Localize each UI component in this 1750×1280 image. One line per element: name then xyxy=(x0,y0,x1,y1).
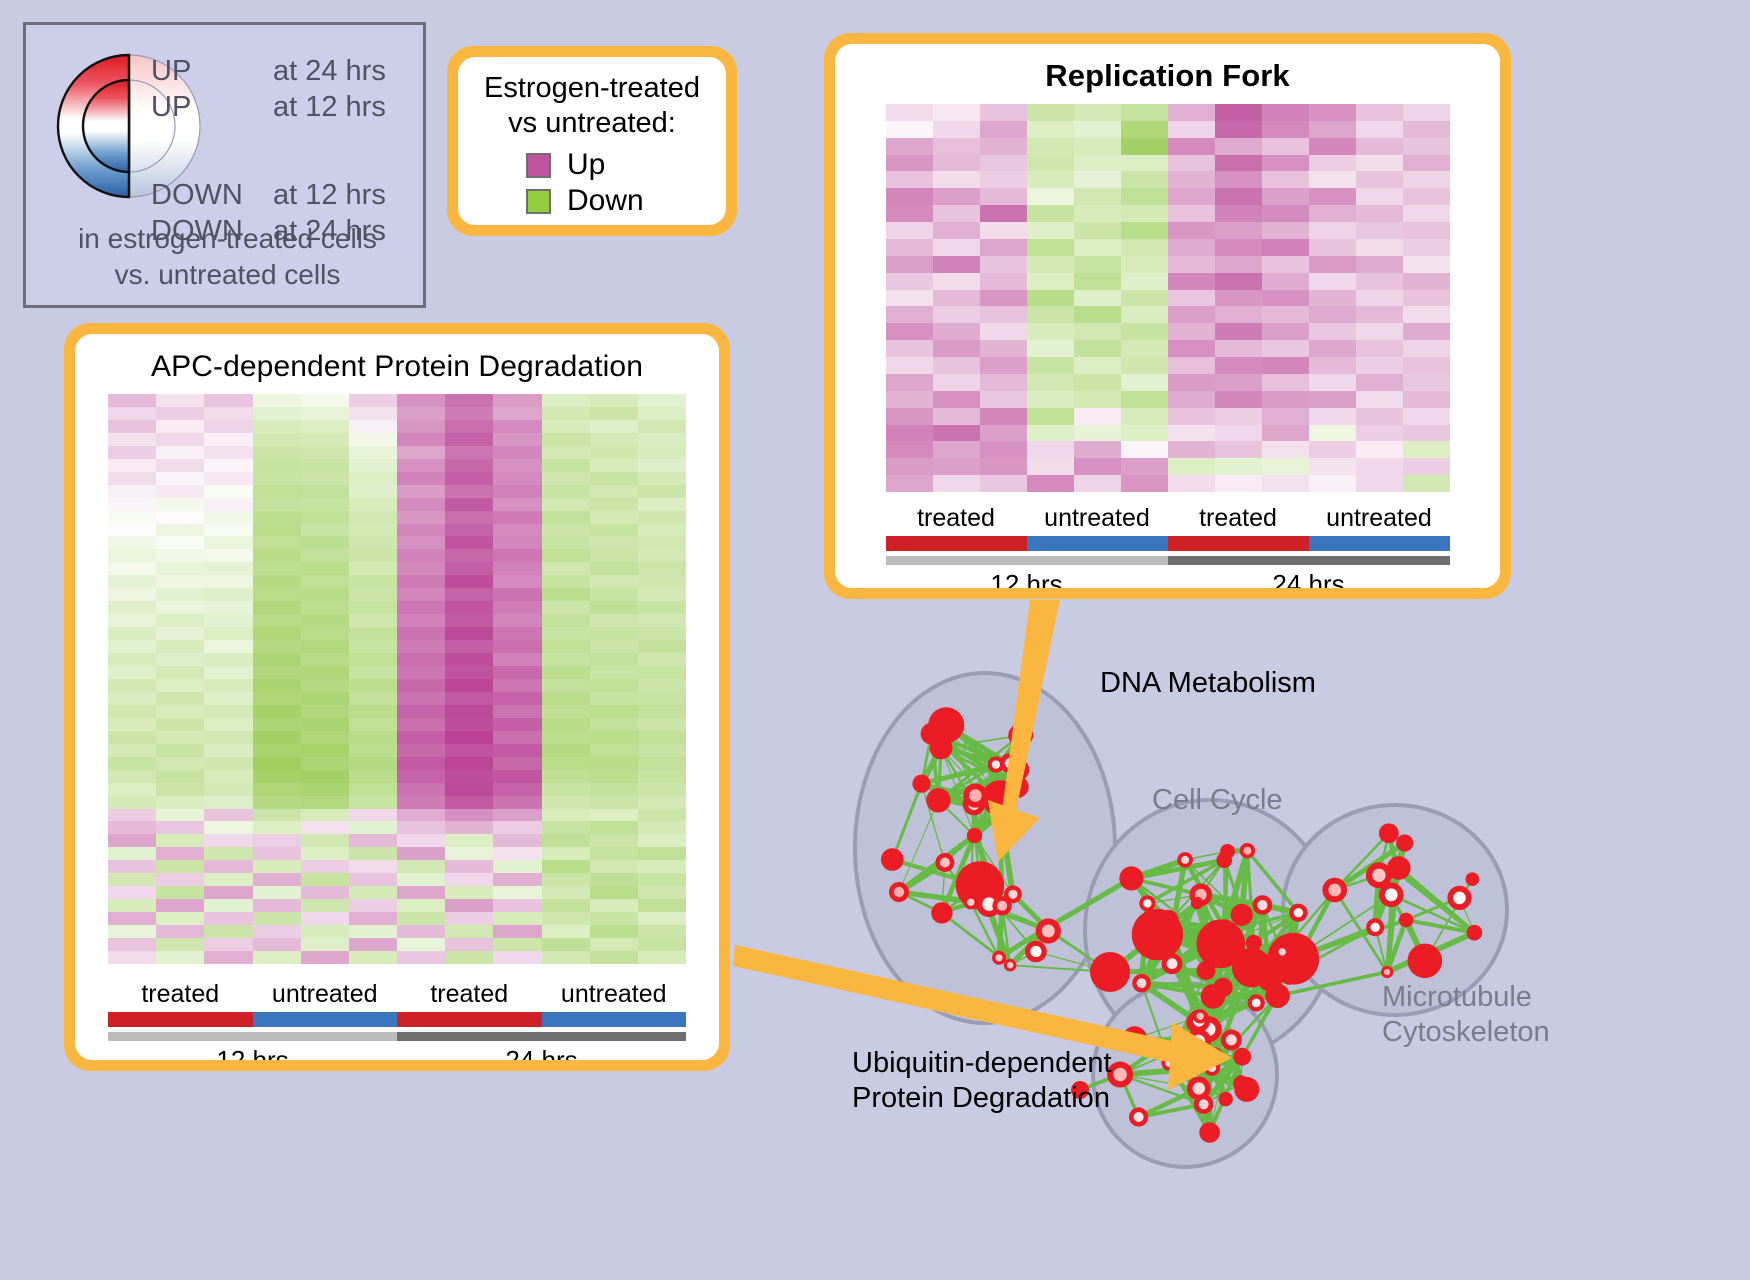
heatmap-cell xyxy=(253,498,301,511)
network-node[interactable] xyxy=(1201,984,1226,1009)
heatmap-cell xyxy=(156,757,204,770)
heatmap-cell xyxy=(542,938,590,951)
heatmap-cell xyxy=(1027,171,1074,188)
heatmap-cell xyxy=(1215,121,1262,138)
network-node[interactable] xyxy=(1390,864,1404,878)
heatmap-cell xyxy=(1262,138,1309,155)
heatmap-cell xyxy=(1027,205,1074,222)
heatmap-cell xyxy=(590,692,638,705)
heatmap-cell xyxy=(156,718,204,731)
network-node[interactable] xyxy=(1218,1092,1232,1106)
heatmap-cell xyxy=(108,536,156,549)
heatmap-cell xyxy=(1403,408,1450,425)
heatmap-cell xyxy=(1309,205,1356,222)
heatmap-cell xyxy=(1074,104,1121,121)
network-node[interactable] xyxy=(1396,835,1413,852)
heatmap-cell xyxy=(445,472,493,485)
heatmap-cell xyxy=(1121,458,1168,475)
heatmap-cell xyxy=(1262,323,1309,340)
heatmap-cell xyxy=(886,121,933,138)
heatmap-cell xyxy=(493,873,541,886)
heatmap-cell xyxy=(1262,391,1309,408)
heatmap-cell xyxy=(445,601,493,614)
heatmap-cell xyxy=(980,458,1027,475)
heatmap-cell xyxy=(349,705,397,718)
colorscale-row: UP at 12 hrs xyxy=(151,89,386,125)
heatmap-cell xyxy=(445,549,493,562)
heatmap-cell xyxy=(590,899,638,912)
heatmap-cell xyxy=(638,394,686,407)
sample-group-label: untreated xyxy=(542,978,687,1010)
cluster-label-ubiquitin: Ubiquitin-dependent Protein Degradation xyxy=(852,1046,1112,1116)
heatmap-cell xyxy=(590,938,638,951)
heatmap-cell xyxy=(156,912,204,925)
heatmap-cell xyxy=(542,692,590,705)
heatmap-cell xyxy=(1074,441,1121,458)
heatmap-cell xyxy=(108,821,156,834)
heatmap-cell xyxy=(1074,475,1121,492)
heatmap-cell xyxy=(349,614,397,627)
heatmap-cell xyxy=(590,627,638,640)
heatmap-cell xyxy=(886,138,933,155)
group-bar-treated xyxy=(108,1012,253,1027)
colorscale-footer-line1: in estrogen-treated cells xyxy=(26,221,429,257)
heatmap-cell xyxy=(933,104,980,121)
heatmap-cell xyxy=(1403,104,1450,121)
heatmap-cell xyxy=(1121,188,1168,205)
network-node[interactable] xyxy=(1160,932,1179,951)
heatmap-cell xyxy=(253,744,301,757)
heatmap-cell xyxy=(1074,391,1121,408)
heatmap-cell xyxy=(933,340,980,357)
heatmap-cell xyxy=(590,614,638,627)
panel-apc-degradation-inner: APC-dependent Protein Degradation treate… xyxy=(75,334,719,1060)
heatmap-cell xyxy=(204,951,252,964)
heatmap-cell xyxy=(349,938,397,951)
heatmap-cell xyxy=(156,459,204,472)
heatmap-cell xyxy=(397,433,445,446)
network-node[interactable] xyxy=(1399,913,1414,928)
heatmap-cell xyxy=(542,783,590,796)
heatmap-cell xyxy=(349,562,397,575)
heatmap-cell xyxy=(445,796,493,809)
heatmap-cell xyxy=(980,408,1027,425)
network-node-core xyxy=(940,858,950,868)
timepoint-colorbar xyxy=(108,1032,686,1041)
heatmap-cell xyxy=(638,536,686,549)
heatmap-cell xyxy=(108,640,156,653)
heatmap-cell xyxy=(590,705,638,718)
heatmap-apc-degradation xyxy=(108,394,686,964)
colorscale-rows: UP at 24 hrs UP at 12 hrs DOWN at 12 hrs… xyxy=(151,53,386,249)
heatmap-cell xyxy=(1168,408,1215,425)
heatmap-cell xyxy=(1168,306,1215,323)
heatmap-cell xyxy=(542,588,590,601)
network-node[interactable] xyxy=(912,775,930,793)
heatmap-cell xyxy=(204,407,252,420)
heatmap-cell xyxy=(108,770,156,783)
heatmap-cell xyxy=(156,770,204,783)
heatmap-cell xyxy=(1215,239,1262,256)
network-node-core xyxy=(1385,888,1398,901)
heatmap-cell xyxy=(253,433,301,446)
heatmap-cell xyxy=(397,847,445,860)
network-node[interactable] xyxy=(931,902,952,923)
heatmap-cell xyxy=(1262,475,1309,492)
heatmap-cell xyxy=(1262,273,1309,290)
heatmap-cell xyxy=(1027,408,1074,425)
heatmap-cell xyxy=(445,847,493,860)
legend-label-down: Down xyxy=(567,184,644,218)
heatmap-cell xyxy=(156,809,204,822)
network-node[interactable] xyxy=(1246,935,1262,951)
heatmap-cell xyxy=(397,770,445,783)
heatmap-cell xyxy=(1074,425,1121,442)
network-node[interactable] xyxy=(1408,944,1443,979)
heatmap-cell xyxy=(108,847,156,860)
heatmap-cell xyxy=(1215,425,1262,442)
heatmap-cell xyxy=(301,433,349,446)
heatmap-cell xyxy=(1027,441,1074,458)
heatmap-cell xyxy=(542,653,590,666)
heatmap-cell xyxy=(1403,374,1450,391)
heatmap-cell xyxy=(1309,104,1356,121)
heatmap-cell xyxy=(1309,121,1356,138)
heatmap-cell xyxy=(253,783,301,796)
heatmap-cell xyxy=(1215,357,1262,374)
network-node[interactable] xyxy=(1122,1026,1147,1051)
heatmap-cell xyxy=(1027,155,1074,172)
heatmap-cell xyxy=(301,420,349,433)
heatmap-cell xyxy=(493,394,541,407)
network-node[interactable] xyxy=(881,848,904,871)
heatmap-cell xyxy=(1027,323,1074,340)
heatmap-cell xyxy=(301,692,349,705)
heatmap-cell xyxy=(638,809,686,822)
heatmap-cell xyxy=(349,809,397,822)
heatmap-cell xyxy=(1356,256,1403,273)
heatmap-cell xyxy=(1309,391,1356,408)
heatmap-cell xyxy=(1262,171,1309,188)
heatmap-cell xyxy=(590,459,638,472)
heatmap-cell xyxy=(204,498,252,511)
heatmap-cell xyxy=(156,627,204,640)
heatmap-cell xyxy=(108,951,156,964)
heatmap-cell xyxy=(156,692,204,705)
heatmap-cell xyxy=(638,653,686,666)
heatmap-cell xyxy=(542,394,590,407)
heatmap-cell xyxy=(253,847,301,860)
heatmap-cell xyxy=(933,425,980,442)
heatmap-cell xyxy=(980,138,1027,155)
updown-legend-panel: Estrogen-treated vs untreated: Up Down xyxy=(447,46,737,236)
heatmap-cell xyxy=(1168,391,1215,408)
heatmap-cell xyxy=(397,588,445,601)
heatmap-cell xyxy=(204,860,252,873)
heatmap-cell xyxy=(1074,323,1121,340)
heatmap-cell xyxy=(493,446,541,459)
network-node-core xyxy=(894,887,904,897)
heatmap-cell xyxy=(886,391,933,408)
heatmap-cell xyxy=(397,912,445,925)
heatmap-cell xyxy=(349,899,397,912)
heatmap-cell xyxy=(1074,290,1121,307)
heatmap-cell xyxy=(397,407,445,420)
heatmap-cell xyxy=(1168,290,1215,307)
heatmap-cell xyxy=(638,640,686,653)
heatmap-cell xyxy=(933,408,980,425)
heatmap-cell xyxy=(980,104,1027,121)
heatmap-cell xyxy=(253,912,301,925)
network-node[interactable] xyxy=(930,736,953,759)
network-node[interactable] xyxy=(1220,844,1235,859)
heatmap-cell xyxy=(638,562,686,575)
colorscale-key: DOWN xyxy=(151,177,273,213)
network-node[interactable] xyxy=(967,828,982,843)
heatmap-cell xyxy=(349,679,397,692)
heatmap-cell xyxy=(1262,441,1309,458)
heatmap-cell xyxy=(1215,171,1262,188)
heatmap-cell xyxy=(204,847,252,860)
heatmap-cell xyxy=(1074,306,1121,323)
heatmap-cell xyxy=(1027,222,1074,239)
network-node[interactable] xyxy=(1158,910,1179,931)
heatmap-cell xyxy=(542,511,590,524)
network-node[interactable] xyxy=(1265,984,1289,1008)
heatmap-cell xyxy=(1356,425,1403,442)
heatmap-cell xyxy=(445,627,493,640)
heatmap-cell xyxy=(108,796,156,809)
heatmap-cell xyxy=(933,239,980,256)
heatmap-cell xyxy=(301,744,349,757)
group-bar-untreated xyxy=(253,1012,398,1027)
heatmap-cell xyxy=(253,407,301,420)
sample-group-label: untreated xyxy=(253,978,398,1010)
heatmap-cell xyxy=(301,536,349,549)
heatmap-cell xyxy=(638,485,686,498)
heatmap-cell xyxy=(1215,458,1262,475)
heatmap-cell xyxy=(253,679,301,692)
heatmap-cell xyxy=(1403,391,1450,408)
heatmap-cell xyxy=(542,809,590,822)
heatmap-cell xyxy=(397,666,445,679)
heatmap-cell xyxy=(1215,205,1262,222)
heatmap-cell xyxy=(542,562,590,575)
heatmap-cell xyxy=(638,601,686,614)
heatmap-cell xyxy=(445,770,493,783)
heatmap-cell xyxy=(1027,425,1074,442)
heatmap-cell xyxy=(1403,239,1450,256)
network-node[interactable] xyxy=(1466,872,1480,886)
heatmap-cell xyxy=(156,873,204,886)
heatmap-cell xyxy=(493,731,541,744)
heatmap-cell xyxy=(349,588,397,601)
heatmap-cell xyxy=(980,475,1027,492)
heatmap-cell xyxy=(445,614,493,627)
sample-group-label: treated xyxy=(886,502,1027,534)
heatmap-cell xyxy=(445,821,493,834)
heatmap-cell xyxy=(1121,256,1168,273)
heatmap-cell xyxy=(204,692,252,705)
heatmap-cell xyxy=(542,498,590,511)
heatmap-cell xyxy=(1309,155,1356,172)
heatmap-cell xyxy=(493,562,541,575)
time-bar-12hrs xyxy=(886,556,1168,565)
heatmap-cell xyxy=(156,549,204,562)
network-node[interactable] xyxy=(1199,1122,1220,1143)
heatmap-cell xyxy=(445,809,493,822)
heatmap-cell xyxy=(204,394,252,407)
network-node[interactable] xyxy=(1467,925,1483,941)
heatmap-cell xyxy=(1121,205,1168,222)
heatmap-cell xyxy=(204,485,252,498)
heatmap-cell xyxy=(1074,256,1121,273)
time-bar-24hrs xyxy=(1168,556,1450,565)
heatmap-cell xyxy=(1309,475,1356,492)
heatmap-cell xyxy=(1403,222,1450,239)
heatmap-cell xyxy=(493,433,541,446)
heatmap-cell xyxy=(204,666,252,679)
heatmap-cell xyxy=(397,472,445,485)
heatmap-cell xyxy=(1356,408,1403,425)
heatmap-cell xyxy=(301,575,349,588)
network-node[interactable] xyxy=(1191,897,1203,909)
network-node[interactable] xyxy=(1379,823,1399,843)
heatmap-cell xyxy=(493,511,541,524)
heatmap-cell xyxy=(590,860,638,873)
heatmap-cell xyxy=(1356,290,1403,307)
heatmap-cell xyxy=(397,886,445,899)
heatmap-cell xyxy=(1215,323,1262,340)
heatmap-cell xyxy=(493,718,541,731)
heatmap-cell xyxy=(1356,104,1403,121)
network-node[interactable] xyxy=(1234,1077,1259,1102)
heatmap-cell xyxy=(349,666,397,679)
heatmap-cell xyxy=(493,705,541,718)
heatmap-cell xyxy=(445,679,493,692)
heatmap-cell xyxy=(1215,340,1262,357)
heatmap-cell xyxy=(156,679,204,692)
heatmap-cell xyxy=(397,549,445,562)
heatmap-cell xyxy=(1027,104,1074,121)
heatmap-cell xyxy=(301,472,349,485)
heatmap-cell xyxy=(349,498,397,511)
network-node[interactable] xyxy=(1199,928,1218,947)
colorscale-value: at 24 hrs xyxy=(273,53,386,89)
heatmap-cell xyxy=(156,511,204,524)
heatmap-cell xyxy=(1168,256,1215,273)
heatmap-cell xyxy=(590,679,638,692)
sample-annotation-strip-apc: treated untreated treated untreated 12 h xyxy=(108,978,686,1060)
heatmap-cell xyxy=(156,420,204,433)
heatmap-cell xyxy=(445,718,493,731)
heatmap-cell xyxy=(638,783,686,796)
heatmap-cell xyxy=(1262,222,1309,239)
heatmap-cell xyxy=(1215,222,1262,239)
heatmap-cell xyxy=(301,614,349,627)
heatmap-cell xyxy=(1121,138,1168,155)
heatmap-cell xyxy=(1168,273,1215,290)
heatmap-cell xyxy=(1215,475,1262,492)
heatmap-cell xyxy=(542,640,590,653)
heatmap-cell xyxy=(1074,138,1121,155)
heatmap-cell xyxy=(1309,171,1356,188)
heatmap-cell xyxy=(397,394,445,407)
heatmap-cell xyxy=(204,653,252,666)
heatmap-cell xyxy=(1027,475,1074,492)
network-node[interactable] xyxy=(1090,952,1130,992)
legend-item-down: Down xyxy=(526,183,716,219)
heatmap-cell xyxy=(980,155,1027,172)
group-bar-untreated xyxy=(1027,536,1168,551)
heatmap-cell xyxy=(1309,306,1356,323)
heatmap-cell xyxy=(204,562,252,575)
heatmap-cell xyxy=(590,873,638,886)
heatmap-cell xyxy=(301,731,349,744)
heatmap-cell xyxy=(1121,357,1168,374)
heatmap-cell xyxy=(204,705,252,718)
network-node[interactable] xyxy=(1008,724,1031,747)
heatmap-cell xyxy=(886,323,933,340)
heatmap-cell xyxy=(397,640,445,653)
heatmap-cell xyxy=(1309,441,1356,458)
network-node[interactable] xyxy=(1231,904,1253,926)
heatmap-cell xyxy=(542,614,590,627)
heatmap-cell xyxy=(445,757,493,770)
heatmap-cell xyxy=(1309,458,1356,475)
heatmap-cell xyxy=(980,121,1027,138)
heatmap-cell xyxy=(493,472,541,485)
network-node[interactable] xyxy=(926,788,950,812)
heatmap-cell xyxy=(204,601,252,614)
heatmap-cell xyxy=(1403,188,1450,205)
heatmap-cell xyxy=(1215,441,1262,458)
heatmap-cell xyxy=(542,536,590,549)
heatmap-cell xyxy=(590,653,638,666)
heatmap-cell xyxy=(253,899,301,912)
heatmap-cell xyxy=(204,446,252,459)
heatmap-cell xyxy=(638,679,686,692)
heatmap-cell xyxy=(349,407,397,420)
network-node[interactable] xyxy=(1279,963,1301,985)
heatmap-cell xyxy=(1356,306,1403,323)
heatmap-cell xyxy=(638,407,686,420)
heatmap-cell xyxy=(253,809,301,822)
heatmap-cell xyxy=(204,770,252,783)
heatmap-cell xyxy=(397,783,445,796)
heatmap-cell xyxy=(638,446,686,459)
network-node[interactable] xyxy=(1218,921,1237,940)
network-node[interactable] xyxy=(1119,866,1143,890)
heatmap-cell xyxy=(638,549,686,562)
heatmap-cell xyxy=(301,951,349,964)
heatmap-cell xyxy=(542,549,590,562)
heatmap-cell xyxy=(397,524,445,537)
heatmap-cell xyxy=(590,847,638,860)
network-node[interactable] xyxy=(1197,961,1216,980)
heatmap-cell xyxy=(397,796,445,809)
timepoint-colorbar xyxy=(886,556,1450,565)
heatmap-cell xyxy=(1121,441,1168,458)
heatmap-cell xyxy=(204,873,252,886)
heatmap-cell xyxy=(349,886,397,899)
timepoint-label-12hrs: 12 hrs xyxy=(108,1043,397,1060)
heatmap-cell xyxy=(493,601,541,614)
heatmap-cell xyxy=(980,239,1027,256)
heatmap-cell xyxy=(1074,121,1121,138)
heatmap-cell xyxy=(1074,188,1121,205)
network-node[interactable] xyxy=(1233,1048,1251,1066)
